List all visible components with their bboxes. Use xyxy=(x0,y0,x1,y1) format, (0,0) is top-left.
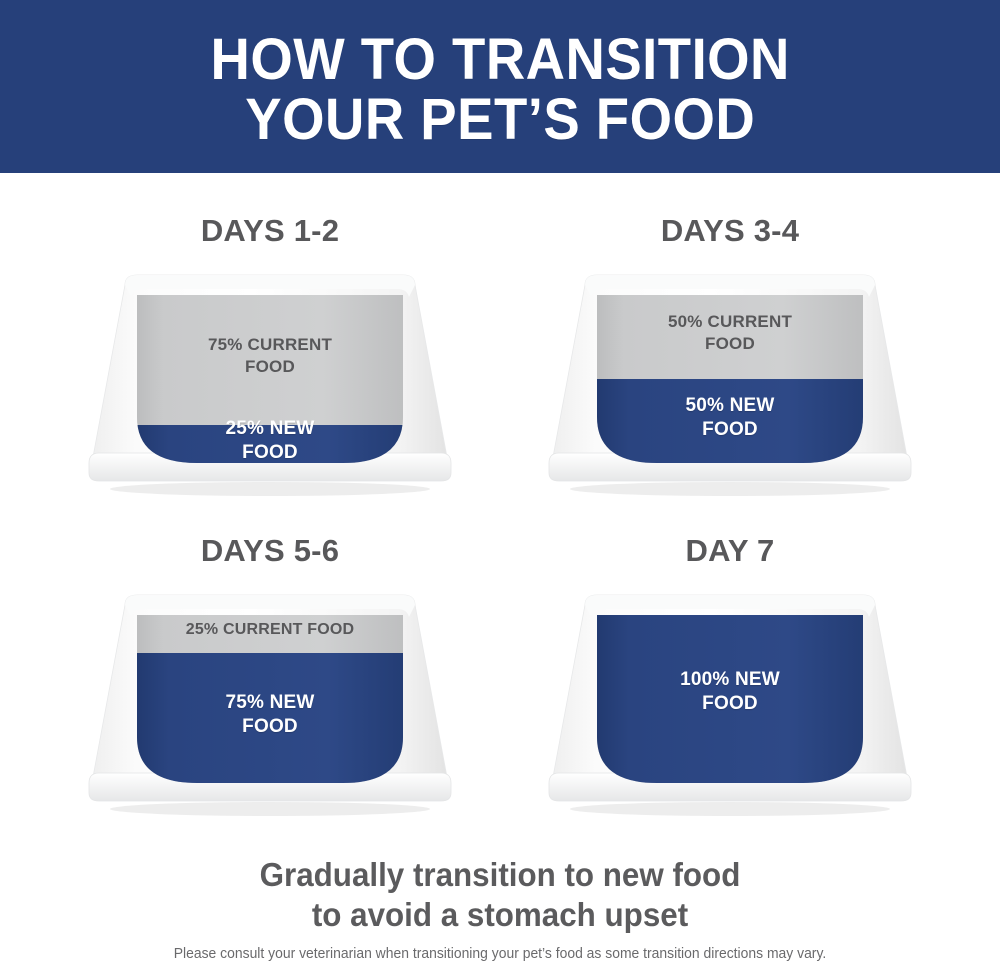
food-bowl-illustration xyxy=(545,267,915,497)
transition-step-days-5-6: DAYS 5-6 xyxy=(40,531,500,861)
bowl-contents xyxy=(597,607,863,791)
food-bowl: 25% CURRENT FOOD 75% NEW FOOD xyxy=(85,587,455,817)
page-title-line-2: YOUR PET’S FOOD xyxy=(245,90,755,150)
header-banner: HOW TO TRANSITION YOUR PET’S FOOD xyxy=(0,0,1000,173)
footer-disclaimer: Please consult your veterinarian when tr… xyxy=(20,945,980,963)
transition-steps-grid: DAYS 1-2 xyxy=(0,173,1000,845)
bowl-contents xyxy=(597,287,863,471)
page-title-line-1: HOW TO TRANSITION xyxy=(210,30,789,90)
step-caption: DAYS 5-6 xyxy=(40,531,500,571)
food-bowl: 50% CURRENT FOOD 50% NEW FOOD xyxy=(545,267,915,497)
food-bowl: 75% CURRENT FOOD 25% NEW FOOD xyxy=(85,267,455,497)
footer-tagline: Gradually transition to new food to avoi… xyxy=(25,855,975,935)
food-bowl-illustration xyxy=(545,587,915,817)
transition-step-days-1-2: DAYS 1-2 xyxy=(40,211,500,541)
bowl-contents xyxy=(137,607,403,791)
food-bowl-illustration xyxy=(85,267,455,497)
transition-step-days-3-4: DAYS 3-4 xyxy=(500,211,960,541)
footer: Gradually transition to new food to avoi… xyxy=(0,845,1000,974)
bowl-contents xyxy=(137,287,403,471)
step-caption: DAYS 3-4 xyxy=(500,211,960,251)
transition-step-day-7: DAY 7 xyxy=(500,531,960,861)
infographic-page: HOW TO TRANSITION YOUR PET’S FOOD DAYS 1… xyxy=(0,0,1000,974)
food-bowl: 100% NEW FOOD xyxy=(545,587,915,817)
food-bowl-illustration xyxy=(85,587,455,817)
step-caption: DAYS 1-2 xyxy=(40,211,500,251)
footer-tagline-line-2: to avoid a stomach upset xyxy=(25,895,975,935)
step-caption: DAY 7 xyxy=(500,531,960,571)
footer-tagline-line-1: Gradually transition to new food xyxy=(25,855,975,895)
